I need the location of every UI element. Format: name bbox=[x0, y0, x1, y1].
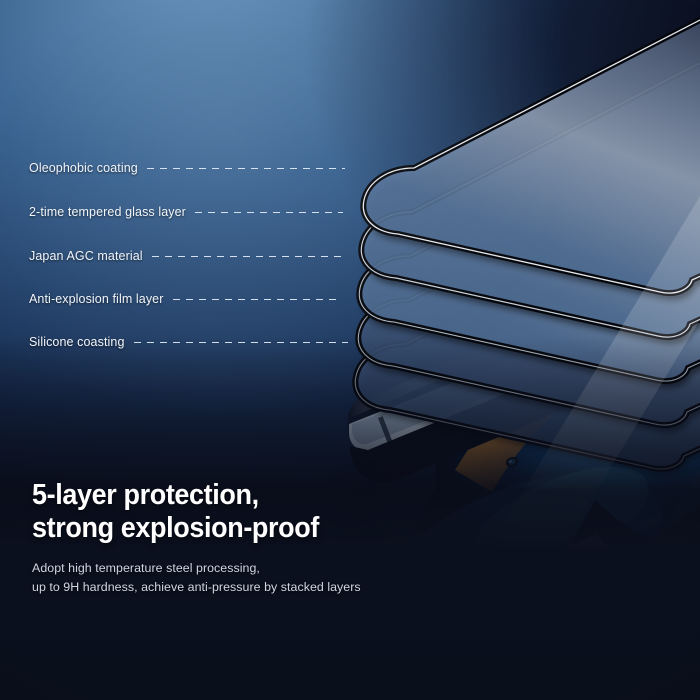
subtext-line-2: up to 9H hardness, achieve anti-pressure… bbox=[32, 578, 502, 597]
layer-label-japan-agc-material: Japan AGC material bbox=[29, 249, 143, 263]
layer-label-tempered-glass: 2-time tempered glass layer bbox=[29, 205, 186, 219]
layer-callout-5: Silicone coasting bbox=[29, 335, 348, 349]
layer-label-oleophobic-coating: Oleophobic coating bbox=[29, 161, 138, 175]
layer-callout-3: Japan AGC material bbox=[29, 249, 342, 263]
layer-label-anti-explosion-film: Anti-explosion film layer bbox=[29, 292, 164, 306]
headline: 5-layer protection, strong explosion-pro… bbox=[32, 479, 469, 545]
layer-leader-line-2 bbox=[195, 212, 343, 213]
product-feature-image: Oleophobic coating 2-time tempered glass… bbox=[0, 0, 700, 700]
headline-line-1: 5-layer protection, bbox=[32, 479, 469, 512]
layer-leader-line-5 bbox=[134, 342, 348, 343]
layer-callout-2: 2-time tempered glass layer bbox=[29, 205, 343, 219]
layer-leader-line-1 bbox=[147, 168, 345, 169]
layer-callout-1: Oleophobic coating bbox=[29, 161, 345, 175]
layer-callout-4: Anti-explosion film layer bbox=[29, 292, 339, 306]
marketing-copy-block: 5-layer protection, strong explosion-pro… bbox=[32, 479, 502, 597]
subtext-line-1: Adopt high temperature steel processing, bbox=[32, 559, 502, 578]
layer-leader-line-4 bbox=[173, 299, 339, 300]
layer-label-silicone-coasting: Silicone coasting bbox=[29, 335, 125, 349]
layer-leader-line-3 bbox=[152, 256, 342, 257]
headline-line-2: strong explosion-proof bbox=[32, 512, 469, 545]
subtext: Adopt high temperature steel processing,… bbox=[32, 559, 502, 597]
